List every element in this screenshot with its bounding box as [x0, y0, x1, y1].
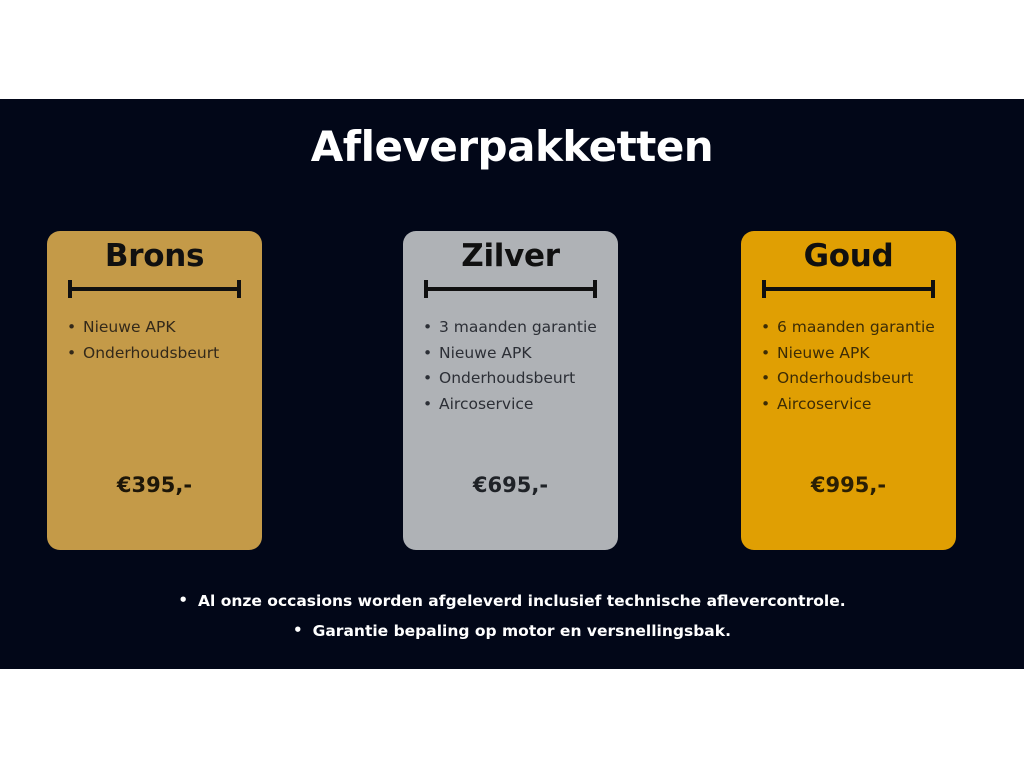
footer-note-text: Al onze occasions worden afgeleverd incl… [198, 592, 846, 610]
dimension-line-bar [424, 287, 597, 291]
list-item: Aircoservice [777, 392, 950, 418]
list-item: Nieuwe APK [83, 315, 256, 341]
bullet-icon: • [293, 616, 303, 645]
dimension-line-cap-right [931, 280, 935, 298]
pricing-card-zilver[interactable]: Zilver 3 maanden garantie Nieuwe APK Ond… [403, 231, 618, 550]
dimension-line-cap-right [593, 280, 597, 298]
dimension-line-bar [762, 287, 935, 291]
list-item: 6 maanden garantie [777, 315, 950, 341]
pricing-card-brons[interactable]: Brons Nieuwe APK Onderhoudsbeurt €395,- [47, 231, 262, 550]
list-item: Nieuwe APK [439, 341, 612, 367]
list-item: Nieuwe APK [777, 341, 950, 367]
pricing-card-price: €995,- [741, 473, 956, 497]
pricing-slide: Afleverpakketten Brons Nieuwe APK Onderh… [0, 99, 1024, 669]
slide-stage: Afleverpakketten Brons Nieuwe APK Onderh… [0, 0, 1024, 768]
feature-list: Nieuwe APK Onderhoudsbeurt [61, 315, 256, 366]
dimension-line-icon [762, 280, 935, 298]
footer-note: •Garantie bepaling op motor en versnelli… [0, 616, 1024, 646]
pricing-cards-row: Brons Nieuwe APK Onderhoudsbeurt €395,- … [0, 231, 1024, 551]
dimension-line-cap-right [237, 280, 241, 298]
footer-note: •Al onze occasions worden afgeleverd inc… [0, 586, 1024, 616]
dimension-line-bar [68, 287, 241, 291]
list-item: Onderhoudsbeurt [439, 366, 612, 392]
pricing-card-goud[interactable]: Goud 6 maanden garantie Nieuwe APK Onder… [741, 231, 956, 550]
footer-note-text: Garantie bepaling op motor en versnellin… [313, 622, 731, 640]
list-item: Onderhoudsbeurt [777, 366, 950, 392]
pricing-card-price: €395,- [47, 473, 262, 497]
bullet-icon: • [178, 586, 188, 615]
pricing-card-title: Goud [741, 239, 956, 275]
dimension-line-icon [424, 280, 597, 298]
pricing-card-title: Zilver [403, 239, 618, 275]
page-title: Afleverpakketten [0, 126, 1024, 168]
pricing-card-price: €695,- [403, 473, 618, 497]
list-item: Onderhoudsbeurt [83, 341, 256, 367]
dimension-line-icon [68, 280, 241, 298]
feature-list: 6 maanden garantie Nieuwe APK Onderhouds… [755, 315, 950, 417]
footer-notes: •Al onze occasions worden afgeleverd inc… [0, 586, 1024, 646]
list-item: 3 maanden garantie [439, 315, 612, 341]
pricing-card-title: Brons [47, 239, 262, 275]
feature-list: 3 maanden garantie Nieuwe APK Onderhouds… [417, 315, 612, 417]
list-item: Aircoservice [439, 392, 612, 418]
